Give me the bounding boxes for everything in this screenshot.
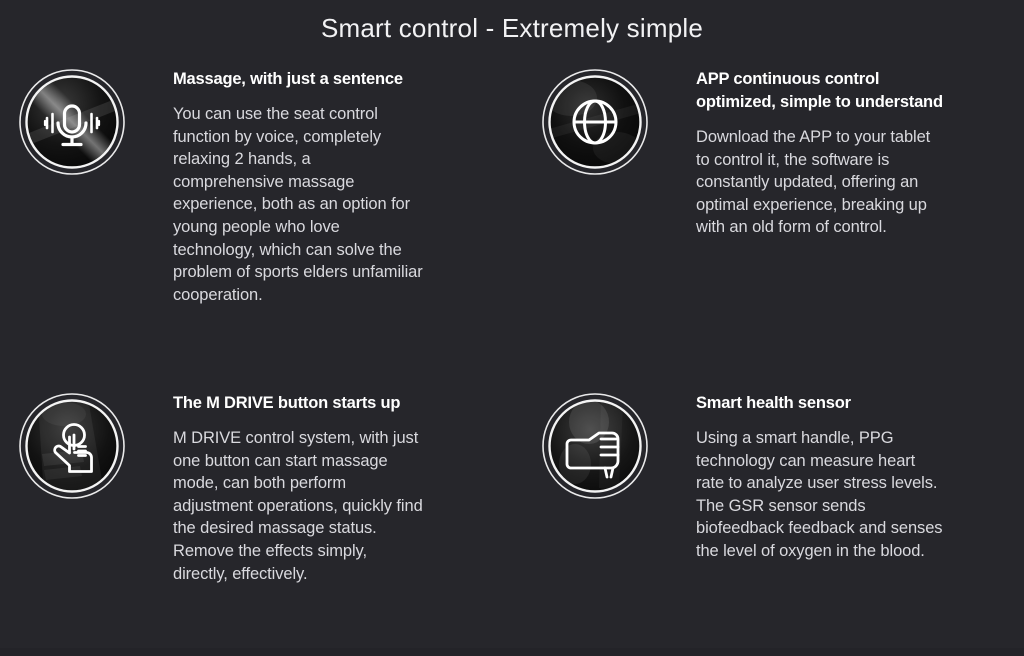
feature-heading: The M DRIVE button starts up: [173, 392, 423, 415]
feature-description: Download the APP to your tablet to contr…: [696, 126, 946, 239]
feature-description: Using a smart handle, PPG technology can…: [696, 427, 946, 563]
hand-press-button-icon: [18, 392, 126, 500]
feature-body: The M DRIVE button starts up M DRIVE con…: [173, 392, 423, 585]
smart-control-feature-panel: Smart control - Extremely simple: [0, 0, 1024, 656]
feature-body: Massage, with just a sentence You can us…: [173, 68, 423, 306]
feature-body: APP continuous control optimized, simple…: [696, 68, 946, 239]
feature-body: Smart health sensor Using a smart handle…: [696, 392, 946, 563]
hand-grip-sensor-icon: [541, 392, 649, 500]
globe-app-icon: [541, 68, 649, 176]
microphone-voice-icon: [18, 68, 126, 176]
page-title: Smart control - Extremely simple: [0, 12, 1024, 44]
feature-description: M DRIVE control system, with just one bu…: [173, 427, 423, 585]
feature-heading: Smart health sensor: [696, 392, 946, 415]
feature-heading: Massage, with just a sentence: [173, 68, 423, 91]
bottom-divider: [0, 648, 1024, 656]
feature-description: You can use the seat control function by…: [173, 103, 423, 306]
feature-heading: APP continuous control optimized, simple…: [696, 68, 946, 114]
